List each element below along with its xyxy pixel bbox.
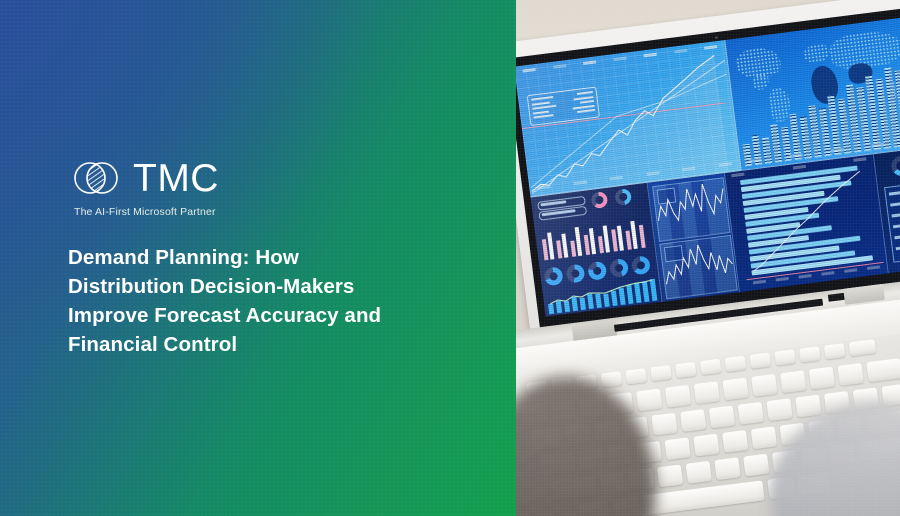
donut-gauge-2 bbox=[565, 264, 585, 284]
ranking-bar-list bbox=[740, 164, 879, 275]
tmc-logo[interactable]: TMC The AI-First Microsoft Partner bbox=[68, 155, 398, 218]
trend-chart-series bbox=[516, 40, 742, 198]
donut-gauge-pink bbox=[590, 191, 608, 209]
headline-line-2: Distribution Decision-Makers bbox=[68, 272, 428, 301]
category-bar-chart bbox=[540, 212, 648, 261]
logo-row: TMC bbox=[68, 155, 398, 201]
webcam-icon bbox=[715, 36, 718, 39]
brand-panel: TMC The AI-First Microsoft Partner Deman… bbox=[0, 0, 516, 516]
metric-list-card bbox=[884, 181, 900, 263]
laptop-screen bbox=[516, 16, 900, 317]
dashboard-panel-volatility bbox=[648, 173, 740, 302]
donut-gauge-3 bbox=[587, 261, 607, 281]
dashboard-panel-gauges bbox=[531, 183, 663, 317]
donut-gauge-4 bbox=[609, 258, 629, 278]
headline-line-1: Demand Planning: How bbox=[68, 243, 428, 272]
page-title: Demand Planning: How Distribution Decisi… bbox=[68, 243, 428, 359]
dashboard-panel-ranking bbox=[725, 154, 889, 292]
tmc-wordmark: TMC bbox=[133, 159, 219, 198]
screen-bezel bbox=[516, 6, 900, 330]
dashboard-panel-world-map bbox=[725, 16, 900, 171]
donut-gauge-5 bbox=[631, 255, 651, 275]
tmc-tagline: The AI-First Microsoft Partner bbox=[74, 206, 398, 218]
donut-gauge-blue bbox=[614, 188, 632, 206]
ranking-cumulative-line bbox=[740, 164, 879, 275]
tmc-venn-circles-logo-icon bbox=[68, 155, 124, 201]
volatility-chart-lower bbox=[659, 235, 737, 300]
headline-line-3: Improve Forecast Accuracy and bbox=[68, 301, 428, 330]
volatility-chart-upper bbox=[652, 177, 730, 242]
headline-line-4: Financial Control bbox=[68, 330, 428, 359]
dashboard-panel-trend-chart bbox=[516, 40, 742, 198]
blog-banner: TMC The AI-First Microsoft Partner Deman… bbox=[0, 0, 900, 516]
laptop-dashboard-photo bbox=[516, 0, 900, 516]
side-donut-gauge bbox=[890, 155, 900, 177]
donut-gauge-1 bbox=[544, 266, 564, 286]
